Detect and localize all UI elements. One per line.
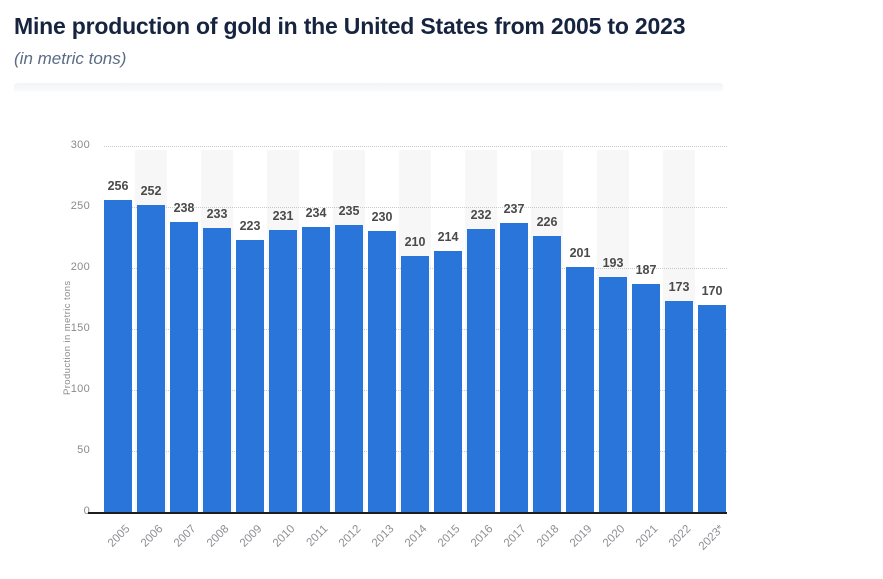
- chart-subtitle: (in metric tons): [14, 49, 883, 69]
- chart-panel: [14, 83, 723, 563]
- panel-body: [14, 92, 723, 563]
- page-title: Mine production of gold in the United St…: [14, 12, 883, 41]
- chart-header: Mine production of gold in the United St…: [0, 0, 883, 69]
- panel-top-band: [14, 83, 723, 92]
